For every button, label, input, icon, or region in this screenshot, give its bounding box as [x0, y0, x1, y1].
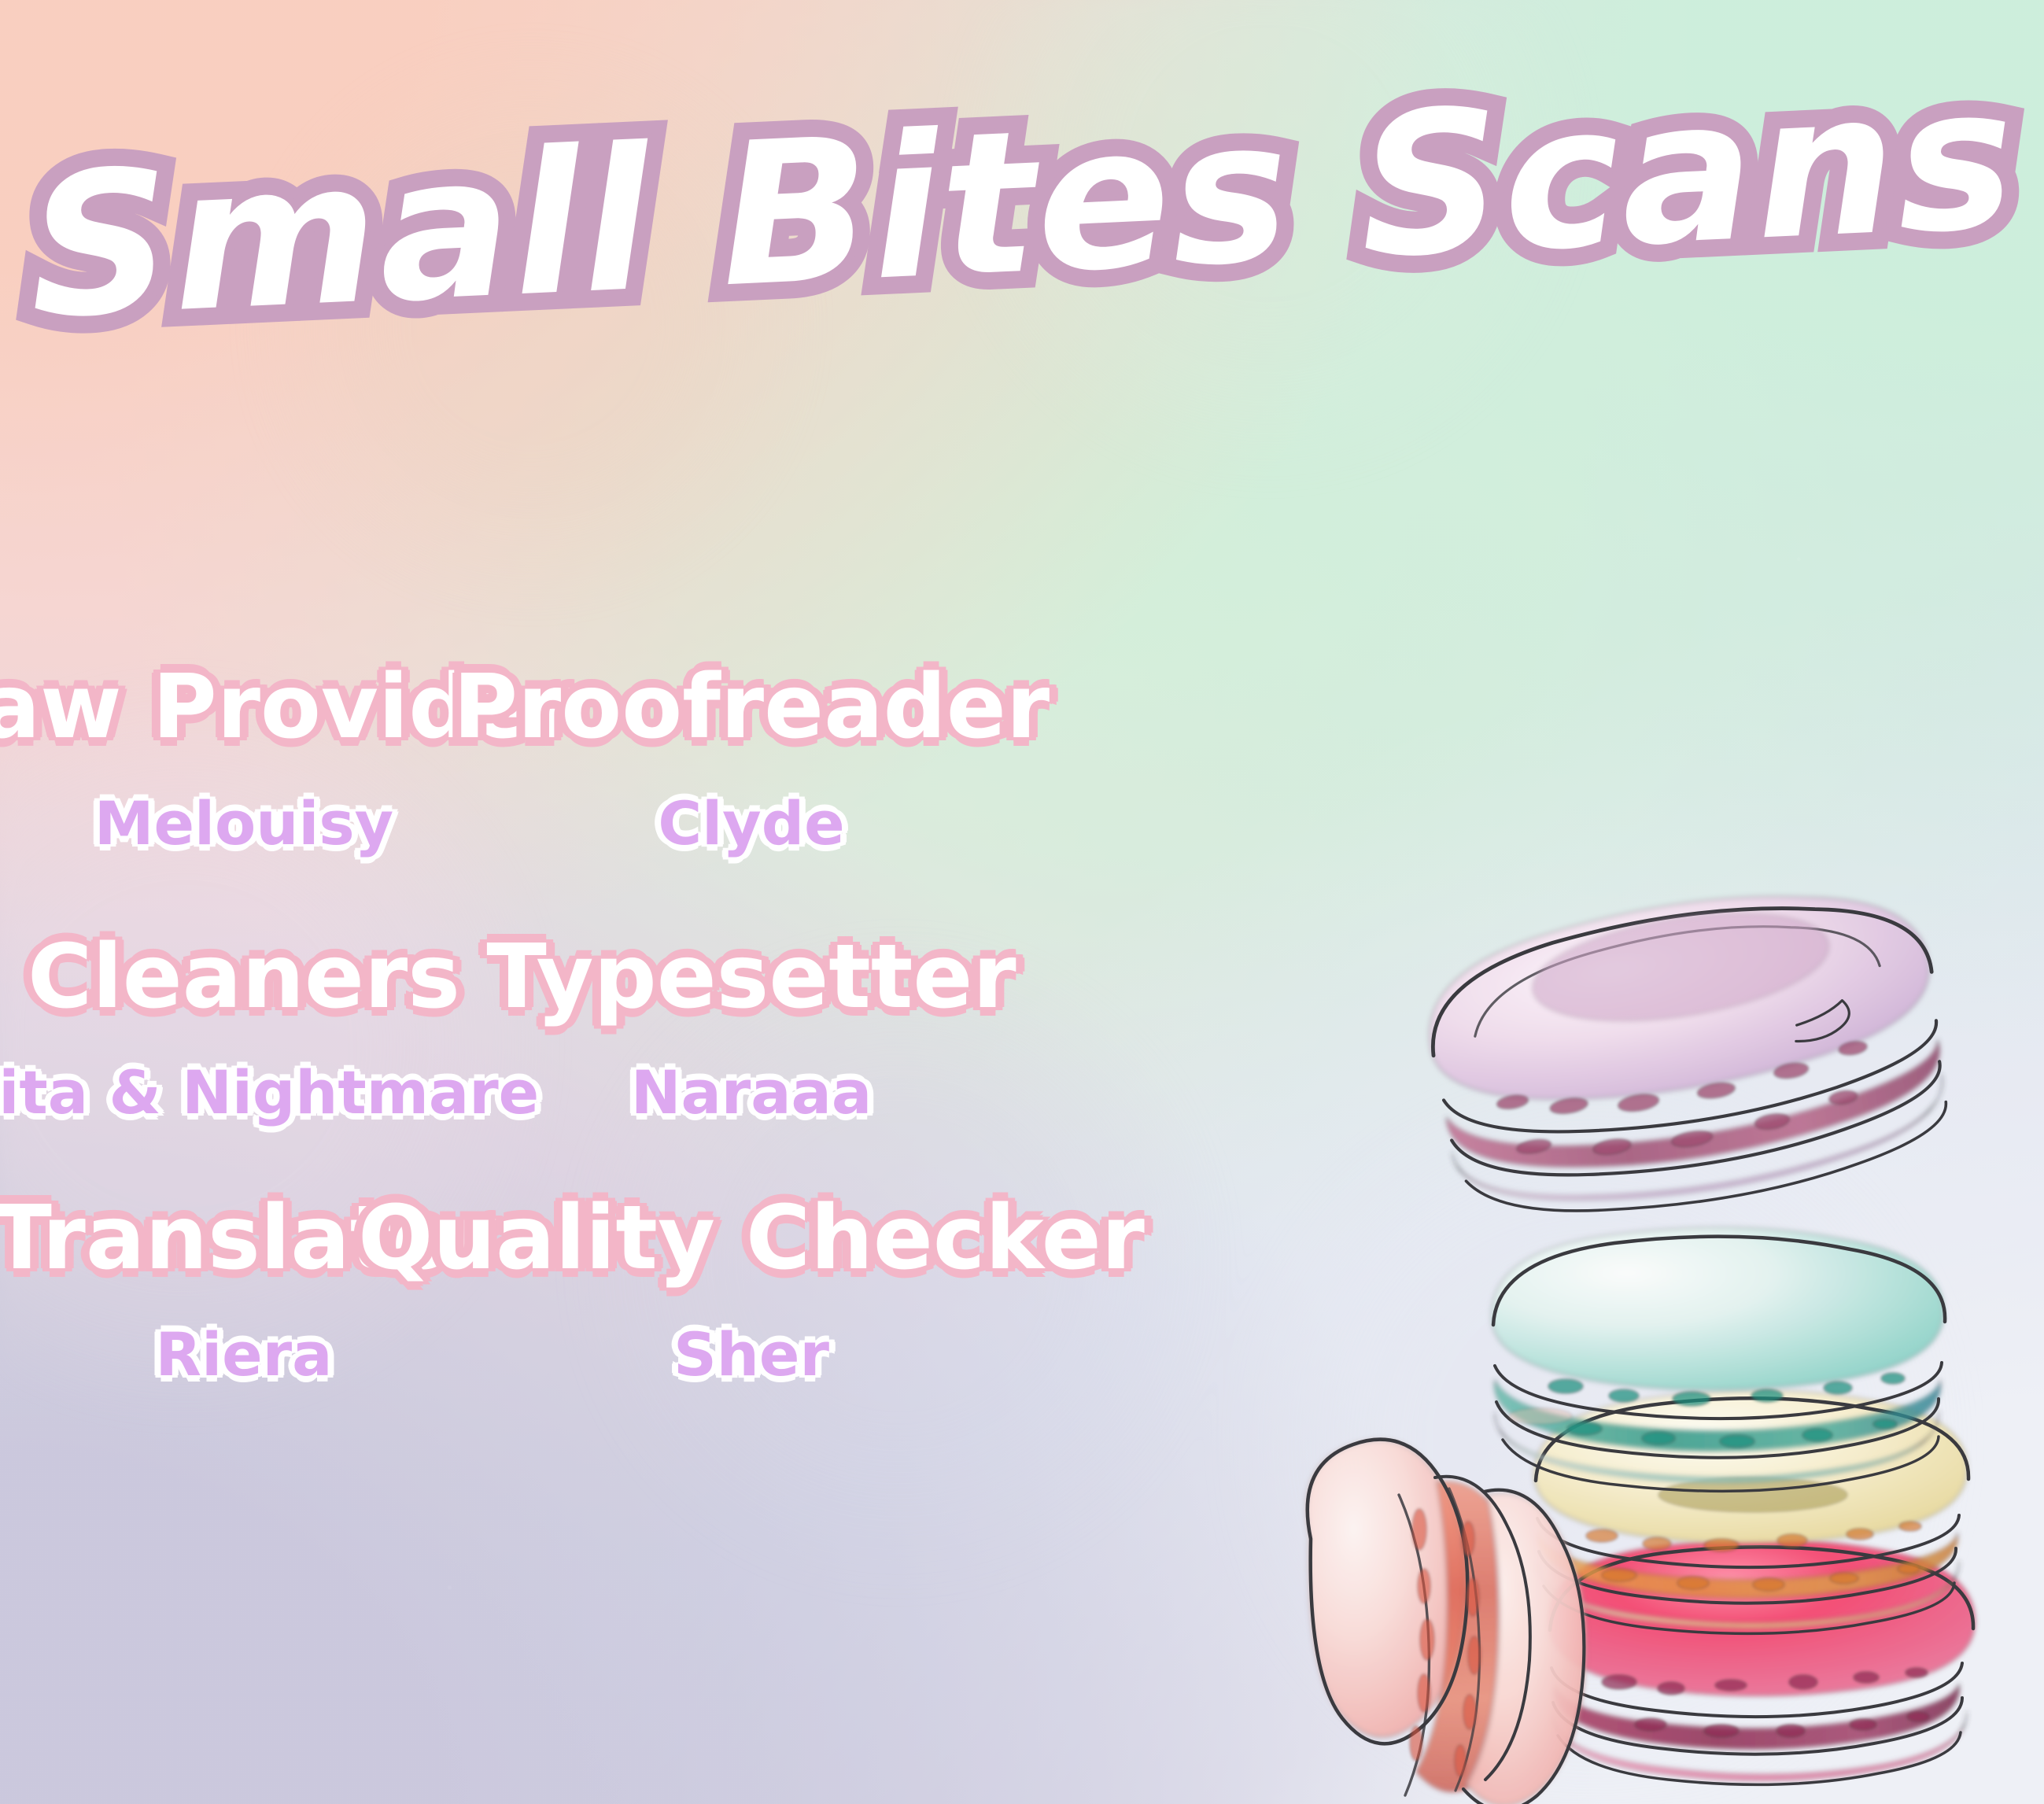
role-label-proofreader: Proofreader	[453, 661, 1050, 754]
member-name-naraaa: Naraaa	[631, 1061, 872, 1124]
credits-card: Small Bites Scans Raw Provider Melouisy …	[0, 0, 2044, 1804]
credit-entry-typesetter: Typesetter Naraaa	[504, 931, 991, 1125]
credit-entry-raw-provider: Raw Provider Melouisy	[0, 661, 472, 855]
member-name-nita-and-nightmare: Nita & Nightmare	[0, 1061, 539, 1124]
credits-grid: Raw Provider Melouisy Proofreader Clyde …	[0, 661, 1479, 1386]
role-label-typesetter: Typesetter	[486, 931, 1016, 1024]
member-name-riera: Riera	[156, 1323, 333, 1386]
member-name-melouisy: Melouisy	[94, 792, 393, 855]
role-label-quality-checker: Quality Checker	[358, 1192, 1145, 1286]
member-name-clyde: Clyde	[658, 792, 844, 855]
credit-entry-quality-checker: Quality Checker Sher	[504, 1192, 991, 1386]
credit-entry-cleaners: Cleaners Nita & Nightmare	[0, 931, 472, 1125]
credit-entry-proofreader: Proofreader Clyde	[504, 661, 991, 855]
role-label-cleaners: Cleaners	[28, 931, 460, 1024]
member-name-sher: Sher	[673, 1323, 829, 1386]
